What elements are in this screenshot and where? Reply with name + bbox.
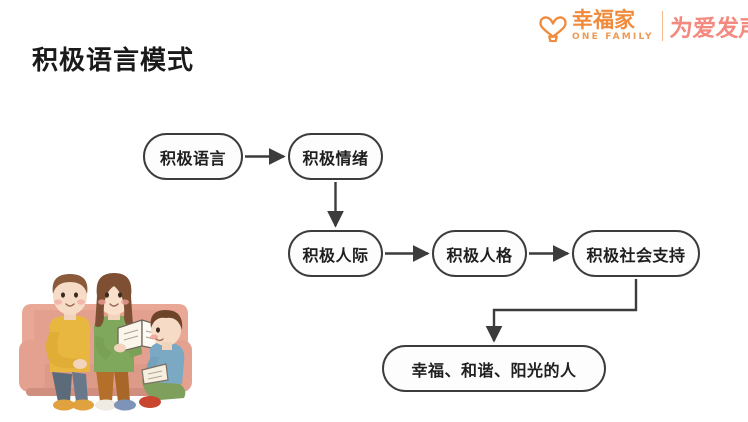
flow-node-outcome[interactable]: 幸福、和谐、阳光的人 (382, 345, 606, 392)
flow-node-positive-interpersonal[interactable]: 积极人际 (288, 230, 383, 277)
flow-node-positive-language[interactable]: 积极语言 (143, 133, 243, 180)
brand-name-en: ONE FAMILY (572, 31, 654, 43)
edge-support-to-outcome (494, 279, 636, 341)
page-title: 积极语言模式 (32, 40, 194, 77)
logo-divider (662, 11, 664, 41)
heart-person-icon (538, 10, 568, 42)
brand-name-cn: 幸福家 (572, 9, 654, 31)
brand-logo: 幸福家 ONE FAMILY 为爱发声 (538, 6, 742, 46)
flow-node-positive-personality[interactable]: 积极人格 (432, 230, 527, 277)
family-reading-on-sofa-illustration (14, 252, 196, 418)
logo-wordmark: 幸福家 ONE FAMILY (572, 9, 654, 43)
flow-node-positive-emotion[interactable]: 积极情绪 (288, 133, 383, 180)
flow-node-positive-social-support[interactable]: 积极社会支持 (572, 230, 700, 277)
brand-slogan: 为爱发声 (669, 9, 748, 43)
